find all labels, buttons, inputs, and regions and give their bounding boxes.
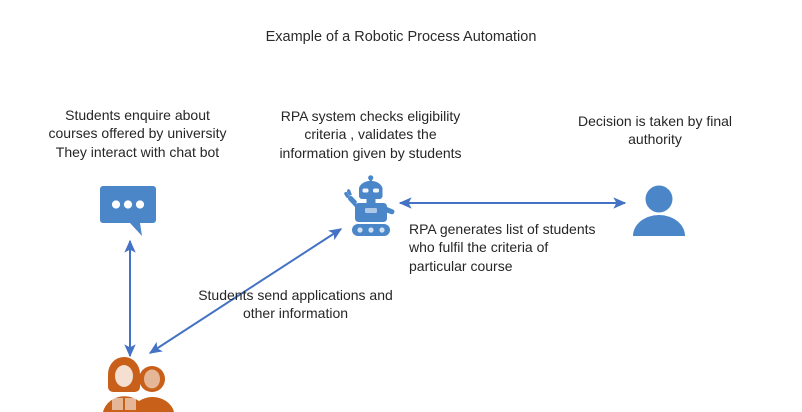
label-rpa-generates-list: RPA generates list of students who fulfi… bbox=[409, 220, 639, 275]
person-icon bbox=[630, 183, 688, 241]
label-students-enquire: Students enquire about courses offered b… bbox=[30, 106, 245, 161]
label-rpa-checks-eligibility: RPA system checks eligibility criteria ,… bbox=[258, 107, 483, 162]
students-group-icon bbox=[95, 352, 180, 412]
diagram-title: Example of a Robotic Process Automation bbox=[0, 28, 802, 47]
robot-icon bbox=[340, 176, 402, 244]
chat-bubble-icon bbox=[100, 182, 162, 240]
label-students-send-applications: Students send applications and other inf… bbox=[178, 286, 413, 323]
label-decision-final-authority: Decision is taken by final authority bbox=[555, 112, 755, 149]
